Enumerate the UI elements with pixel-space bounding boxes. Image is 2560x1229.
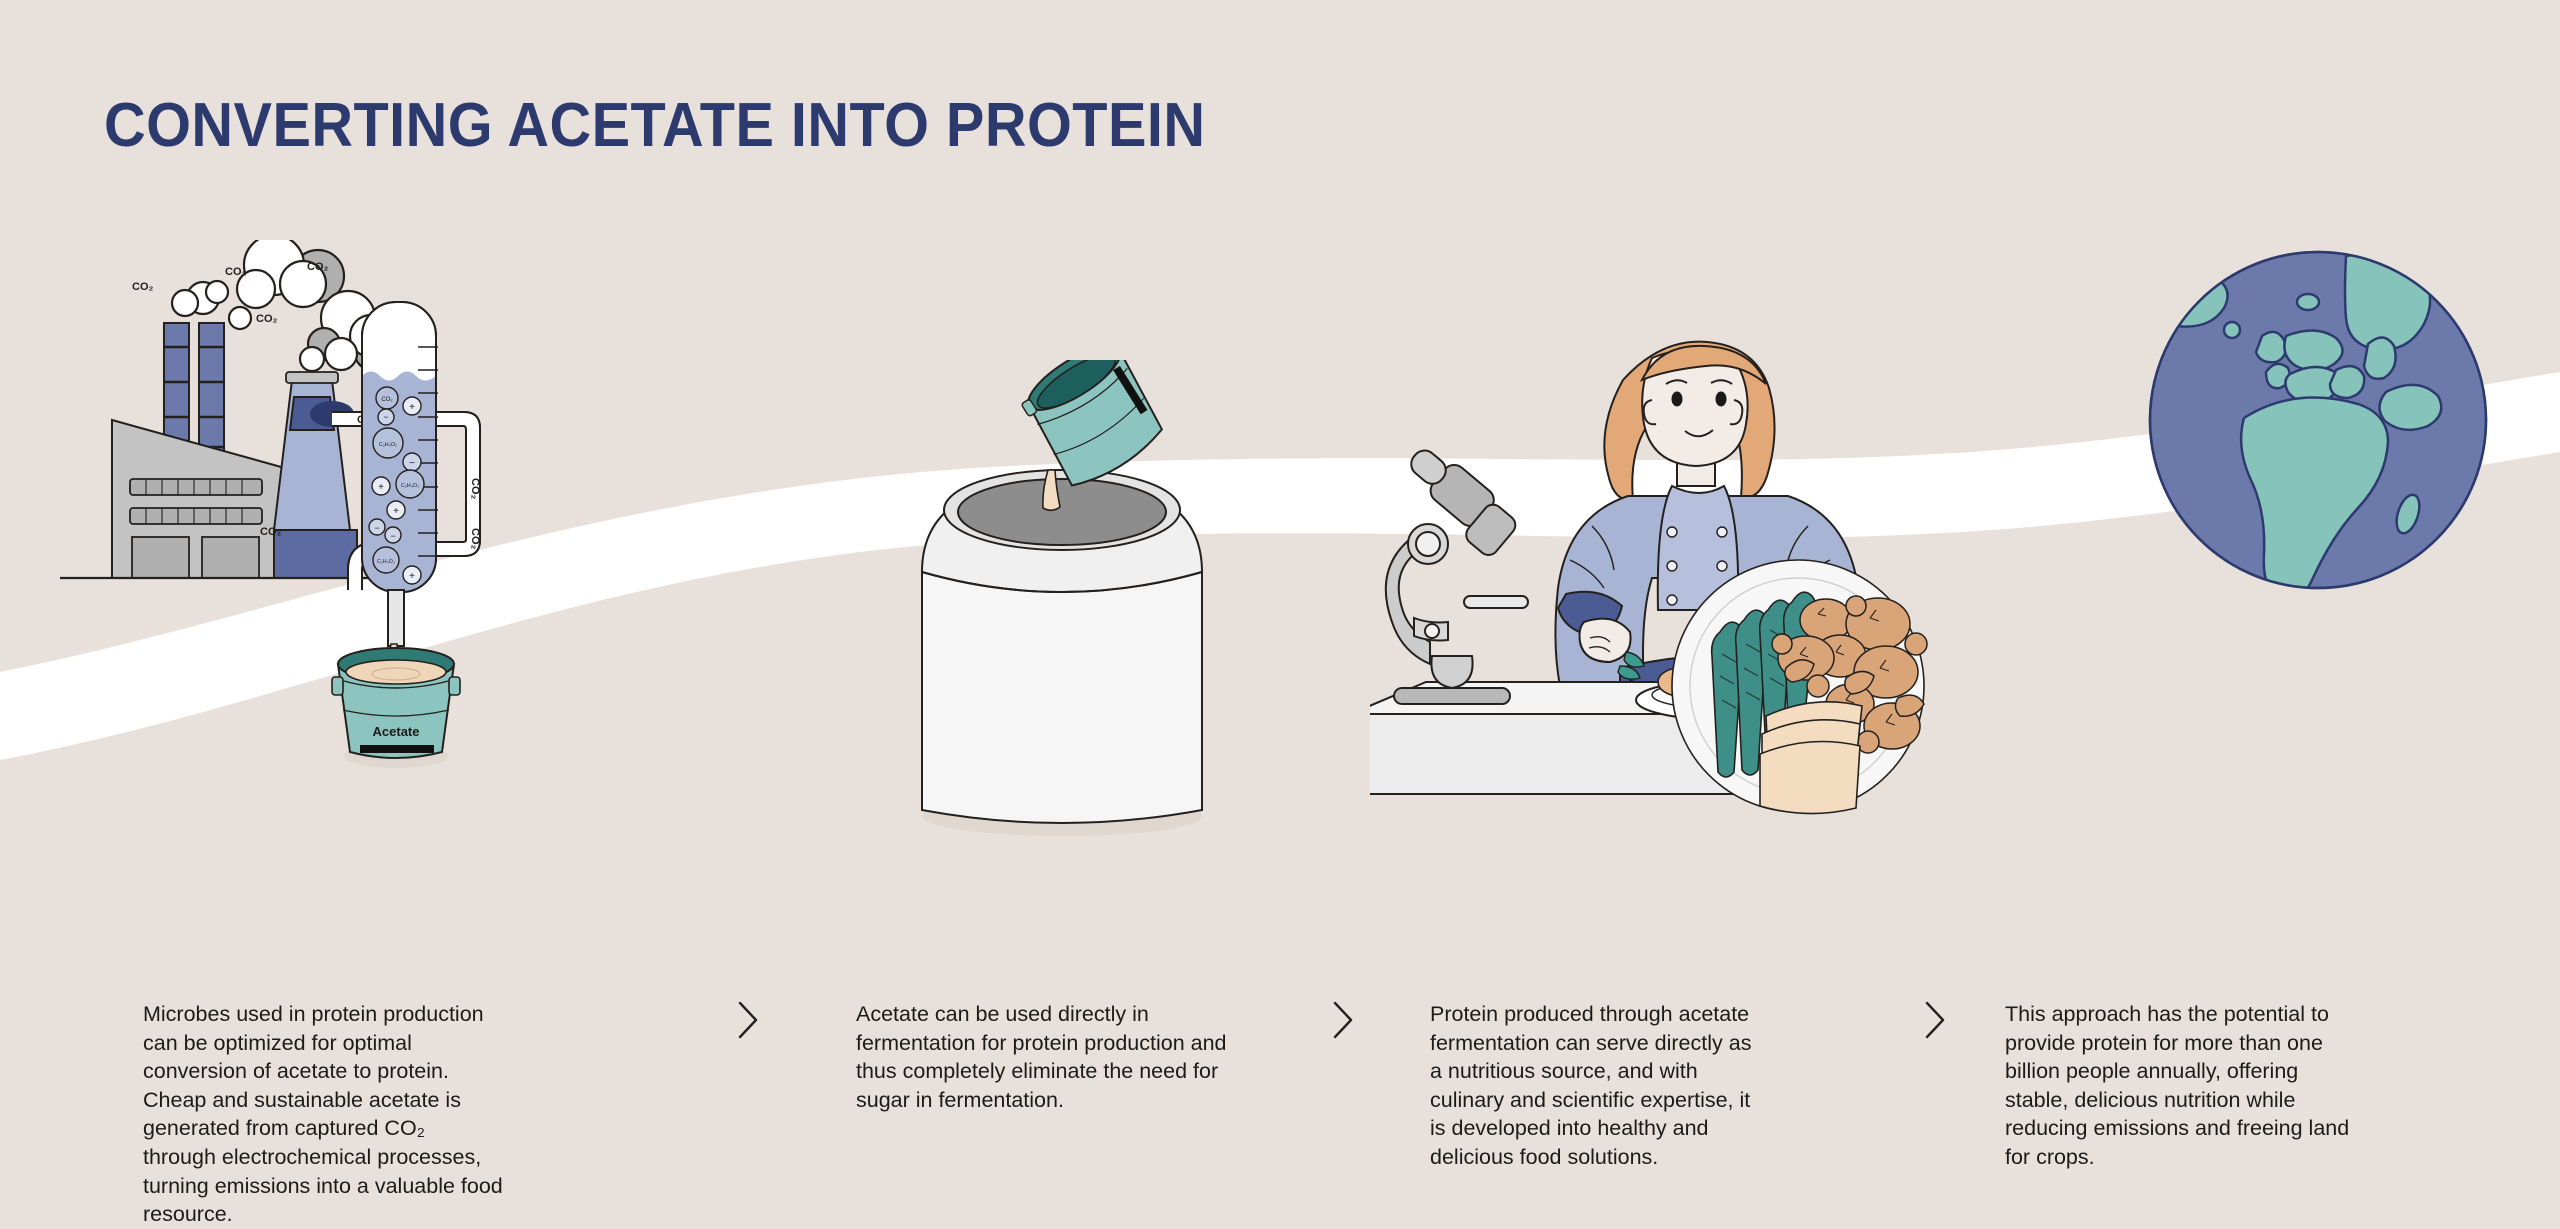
svg-text:CO₂: CO₂ [225, 266, 247, 278]
electrolyzer-tube: CO₂ − C₂H₄O₂ + − C₂H₄O₂ + + − − C₂H₄O₂ + [362, 302, 438, 646]
chevron-right-icon-3 [1917, 997, 1951, 1043]
svg-text:+: + [409, 571, 415, 582]
illustration-chef-microscope-plate [1370, 300, 2110, 890]
svg-text:CO₂: CO₂ [132, 281, 154, 293]
svg-text:CO₂: CO₂ [260, 526, 282, 538]
food-plate-circle [1672, 560, 1927, 814]
chevron-right-icon-2 [1325, 997, 1359, 1043]
svg-text:C₂H₄O₂: C₂H₄O₂ [377, 559, 395, 565]
step-caption-4: This approach has the potential to provi… [2005, 1000, 2365, 1172]
fermentation-tank-body [922, 470, 1202, 823]
svg-text:CO₂: CO₂ [469, 478, 481, 500]
bread-group [1760, 702, 1862, 814]
svg-text:−: − [409, 458, 415, 469]
svg-text:+: + [378, 482, 384, 493]
svg-text:C₂H₄O₂: C₂H₄O₂ [379, 442, 397, 448]
svg-text:CO₂: CO₂ [256, 313, 278, 325]
svg-text:C₂H₄O₂: C₂H₄O₂ [401, 483, 419, 489]
svg-text:+: + [393, 506, 399, 517]
svg-text:CO₂: CO₂ [469, 528, 481, 550]
page-title: CONVERTING ACETATE INTO PROTEIN [104, 95, 1205, 157]
svg-text:−: − [383, 412, 388, 422]
microscope [1386, 440, 1528, 704]
illustration-fermentation-tank [840, 360, 1280, 860]
svg-text:CO₂: CO₂ [307, 261, 329, 273]
illustration-globe [2140, 250, 2500, 600]
svg-text:+: + [409, 402, 415, 413]
acetate-bucket-label: Acetate [373, 724, 420, 739]
step-caption-3: Protein produced through acetate ferment… [1430, 1000, 1760, 1172]
svg-text:CO₂: CO₂ [381, 397, 393, 403]
cooling-tower [274, 372, 357, 578]
svg-text:−: − [390, 531, 395, 541]
acetate-bucket: Acetate [332, 648, 460, 768]
illustration-factory-electrolyzer: CO₂ CO₂ CO₂ CO₂ CO₂ CO₂ CO₂ CO₂ CO₂ [60, 240, 760, 900]
step-caption-1: Microbes used in protein production can … [143, 1000, 503, 1229]
step-caption-2: Acetate can be used directly in fermenta… [856, 1000, 1256, 1114]
svg-text:−: − [374, 523, 379, 533]
chevron-right-icon-1 [730, 997, 764, 1043]
